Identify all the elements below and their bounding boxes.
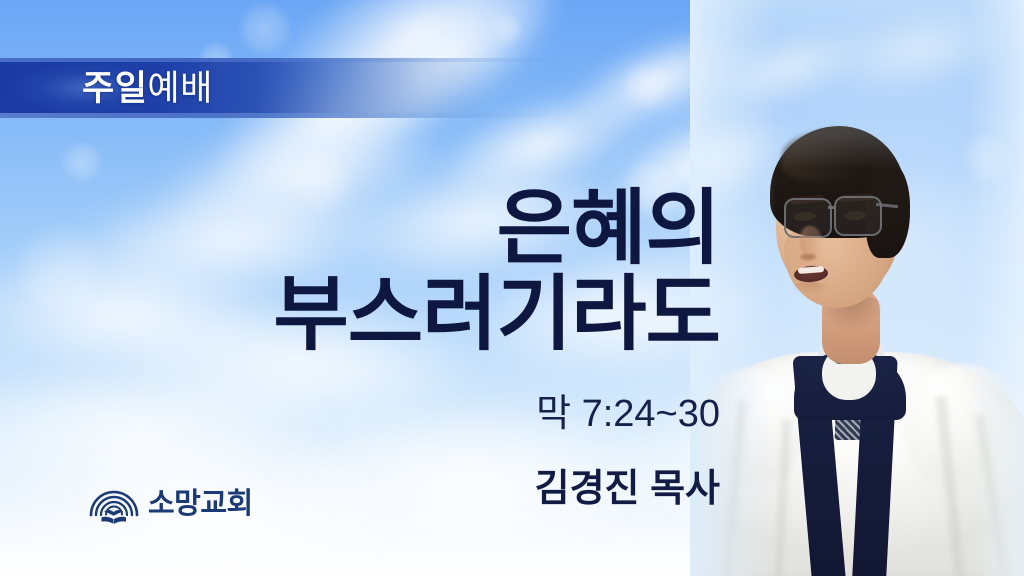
service-type-label-strong: 주일 bbox=[82, 69, 147, 108]
sermon-title-line-2: 부스러기라도 bbox=[150, 272, 720, 358]
scripture-reference: 막 7:24~30 bbox=[150, 382, 720, 437]
sermon-text-block: 은혜의 부스러기라도 막 7:24~30 김경진 목사 bbox=[150, 186, 720, 512]
glasses-bridge bbox=[828, 206, 836, 209]
church-name: 소망교회 bbox=[148, 490, 253, 519]
pastor-portrait bbox=[690, 0, 1024, 576]
service-type-band: 주일예배 bbox=[0, 58, 560, 118]
sermon-title-card: 주일예배 은혜의 부스러기라도 막 7:24~30 김경진 목사 소망교회 bbox=[0, 0, 1024, 576]
service-type-label: 주일예배 bbox=[82, 71, 213, 106]
open-book-with-arcs-and-dove-icon bbox=[88, 482, 140, 526]
lip-shadow bbox=[790, 282, 830, 294]
glasses-icon bbox=[834, 196, 882, 236]
nostril bbox=[800, 254, 816, 260]
hair-highlight bbox=[782, 130, 886, 182]
service-type-label-light: 예배 bbox=[147, 69, 212, 108]
robe-shoulder-right bbox=[904, 364, 1024, 494]
sermon-title-line-1: 은혜의 bbox=[150, 186, 720, 272]
church-logo: 소망교회 bbox=[88, 482, 253, 526]
nose bbox=[800, 226, 822, 258]
